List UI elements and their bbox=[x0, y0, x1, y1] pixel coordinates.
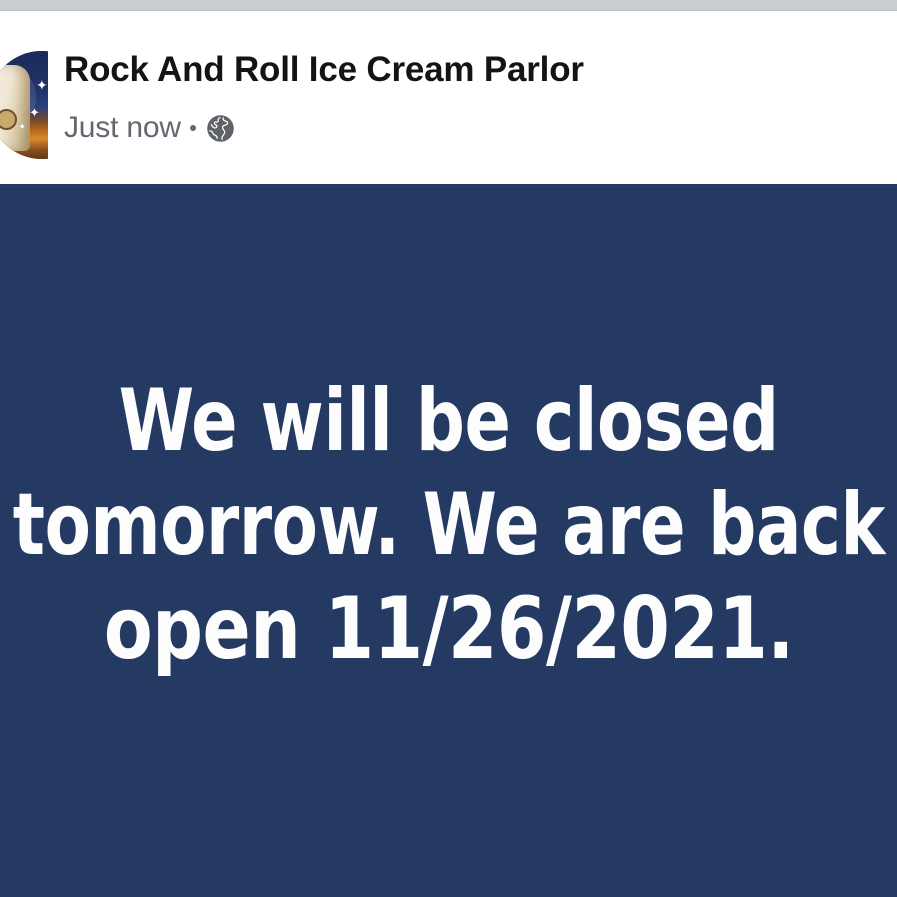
star-icon: ✦ bbox=[36, 78, 48, 92]
flag-stars: ✦ ✦ ✦ ✦ ✦ bbox=[0, 51, 48, 159]
announcement-line-3: open 11/26/2021. bbox=[103, 577, 793, 681]
post-timestamp[interactable]: Just now bbox=[64, 111, 181, 145]
star-icon: ✦ bbox=[18, 123, 26, 133]
announcement-poster: We will be closed tomorrow. We are back … bbox=[0, 184, 897, 897]
meta-separator-dot bbox=[190, 125, 196, 131]
top-chrome-bar bbox=[0, 0, 897, 11]
post-meta: Just now bbox=[64, 111, 234, 145]
announcement-line-1: We will be closed bbox=[119, 369, 779, 473]
post-header: ✦ ✦ ✦ ✦ ✦ Rock And Roll Ice Cream Parlor… bbox=[0, 12, 897, 184]
page-name[interactable]: Rock And Roll Ice Cream Parlor bbox=[64, 50, 584, 90]
announcement-text-block: We will be closed tomorrow. We are back … bbox=[0, 184, 897, 897]
globe-public-icon[interactable] bbox=[207, 115, 234, 142]
avatar-image: ✦ ✦ ✦ ✦ ✦ bbox=[0, 51, 48, 159]
announcement-line-2: tomorrow. We are back bbox=[13, 473, 885, 577]
avatar[interactable]: ✦ ✦ ✦ ✦ ✦ bbox=[0, 51, 48, 161]
post-screenshot: ✦ ✦ ✦ ✦ ✦ Rock And Roll Ice Cream Parlor… bbox=[0, 0, 897, 897]
star-icon: ✦ bbox=[29, 106, 40, 119]
